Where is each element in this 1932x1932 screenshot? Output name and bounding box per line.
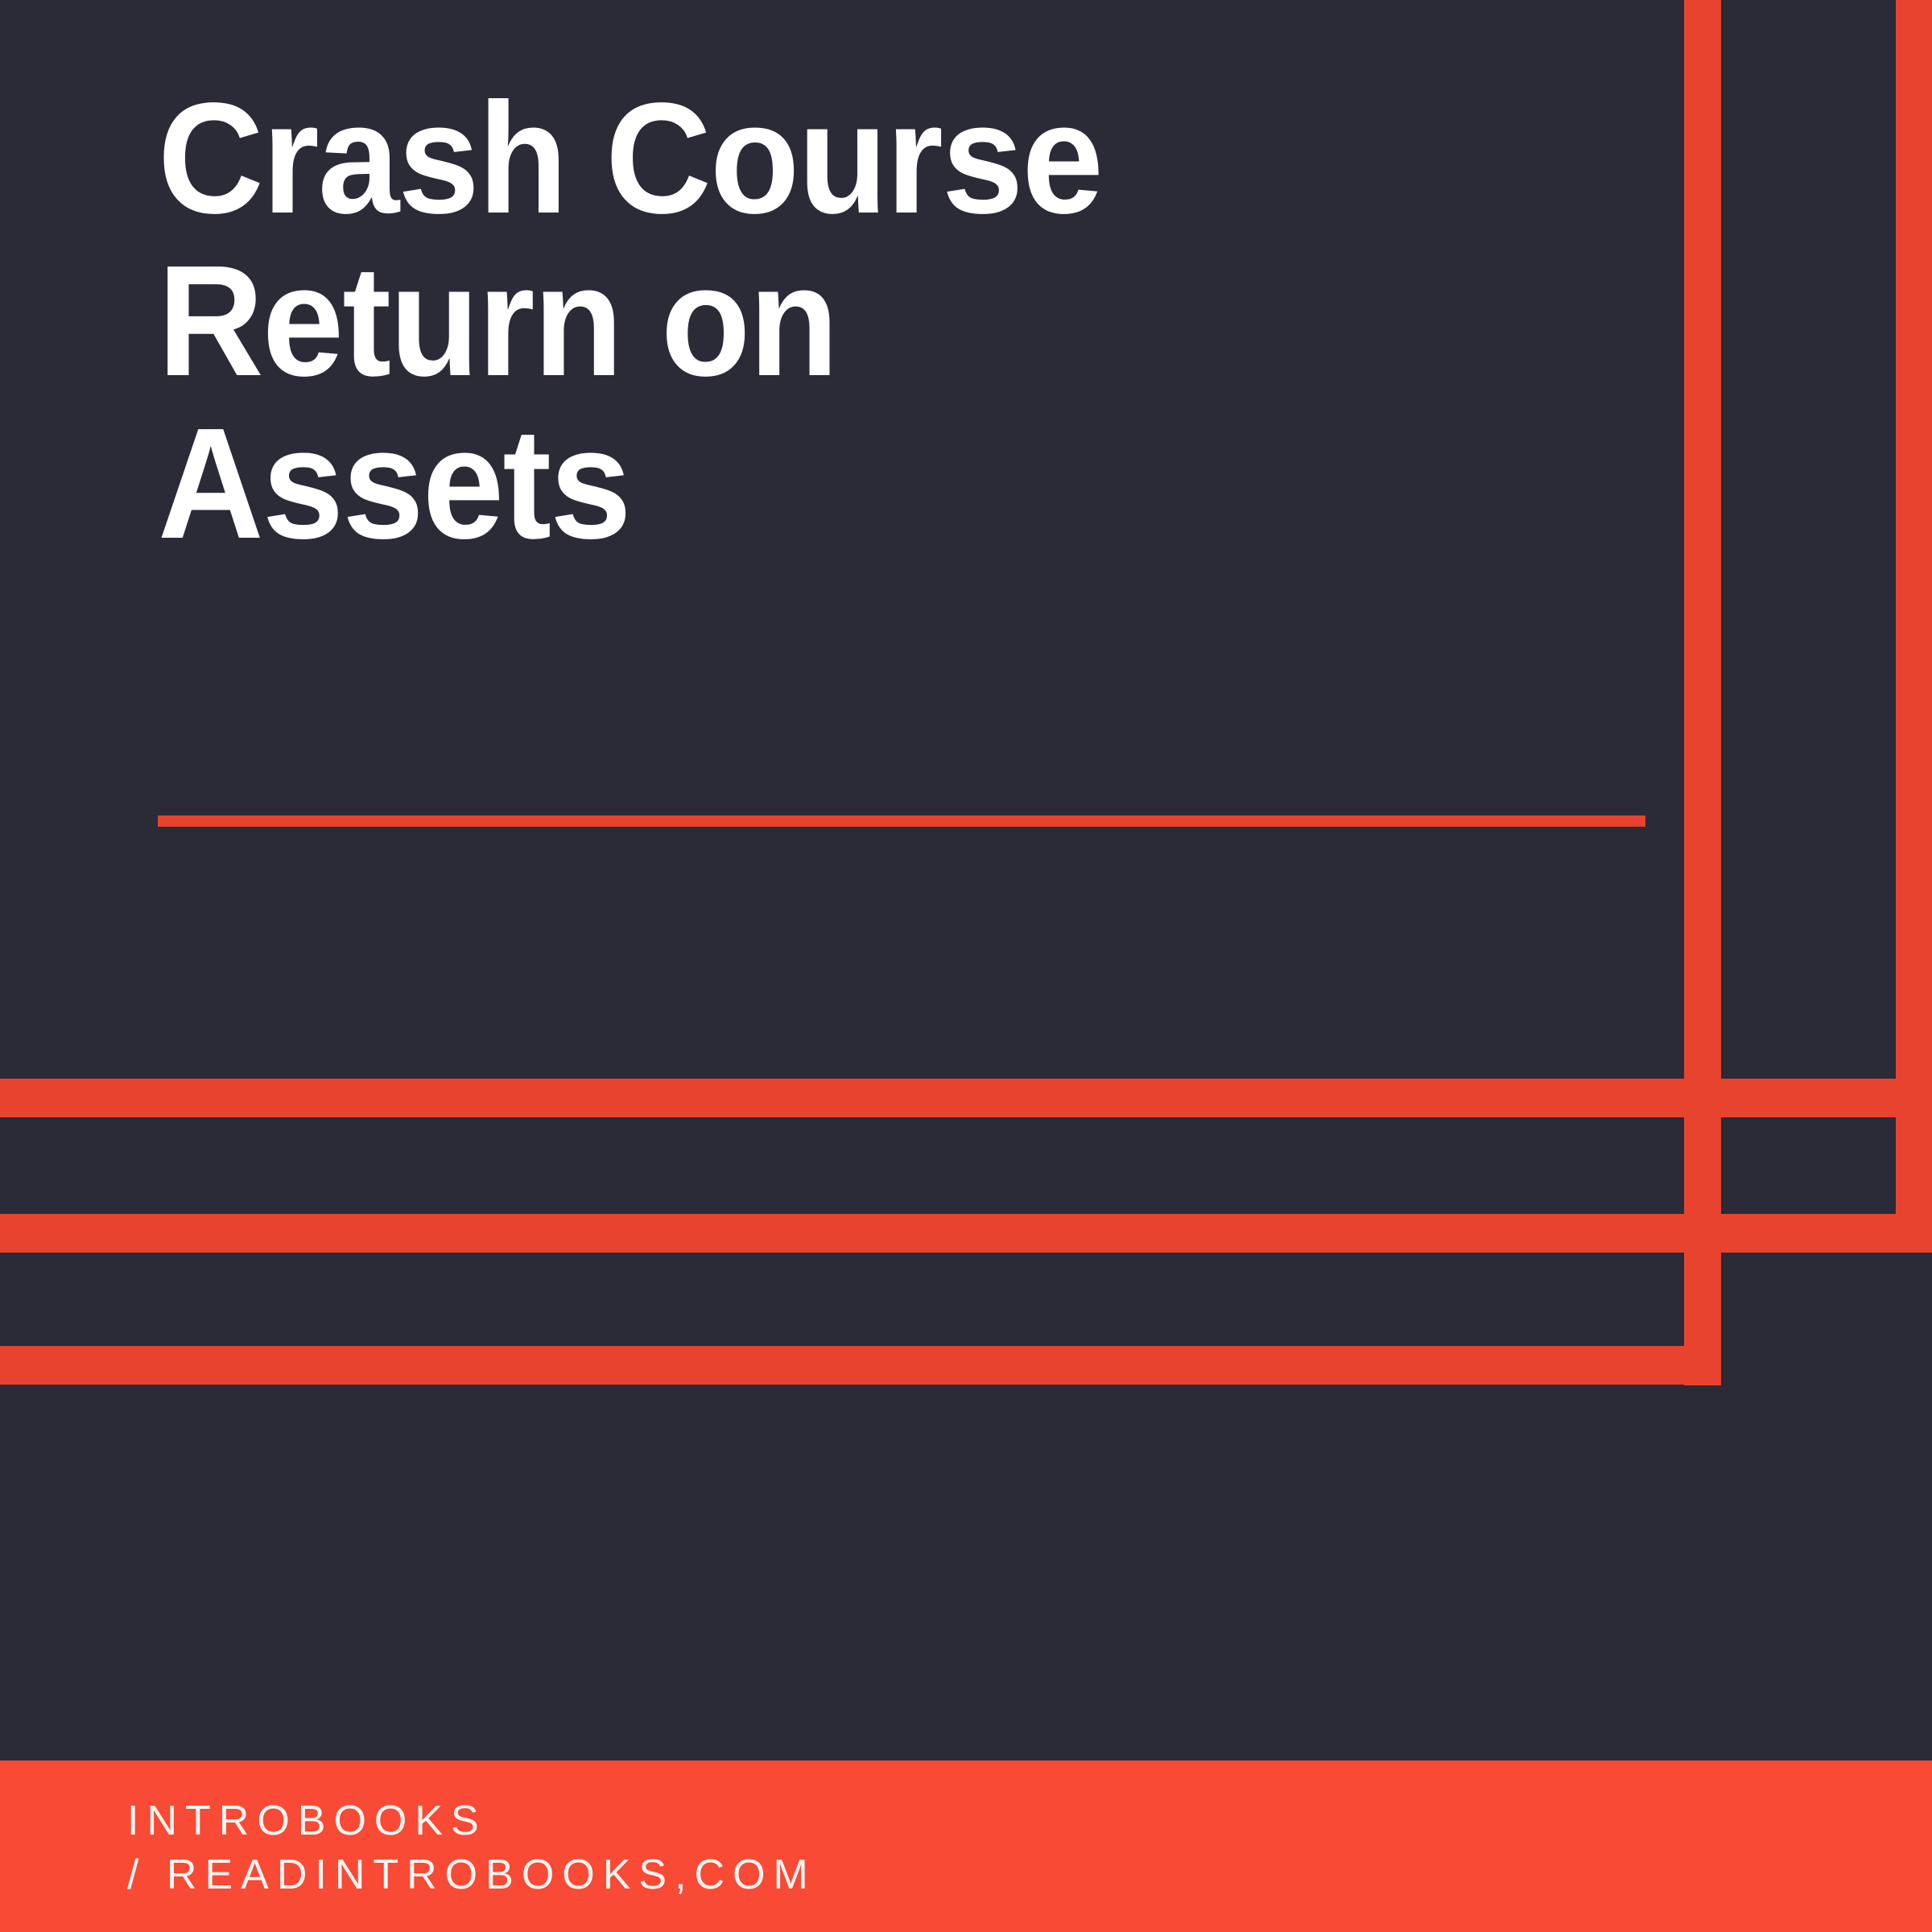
title-block: Crash Course Return on Assets [158, 77, 1687, 565]
vertical-rule-inner [1684, 0, 1721, 1385]
publisher-credit: INTROBOOKS / READINTROBOOKS,COM [127, 1794, 816, 1901]
title-underline [158, 815, 1645, 827]
book-title: Crash Course Return on Assets [158, 77, 1580, 565]
publisher-name: INTROBOOKS [127, 1794, 816, 1848]
vertical-rule-outer [1896, 0, 1932, 1253]
publisher-website: / READINTROBOOKS,COM [127, 1848, 816, 1902]
horizontal-rule-top [0, 1079, 1932, 1117]
book-cover: Crash Course Return on Assets INTROBOOKS… [0, 0, 1932, 1932]
footer-band: INTROBOOKS / READINTROBOOKS,COM [0, 1761, 1932, 1932]
horizontal-rule-bottom [0, 1346, 1721, 1385]
horizontal-rule-middle [0, 1214, 1932, 1253]
